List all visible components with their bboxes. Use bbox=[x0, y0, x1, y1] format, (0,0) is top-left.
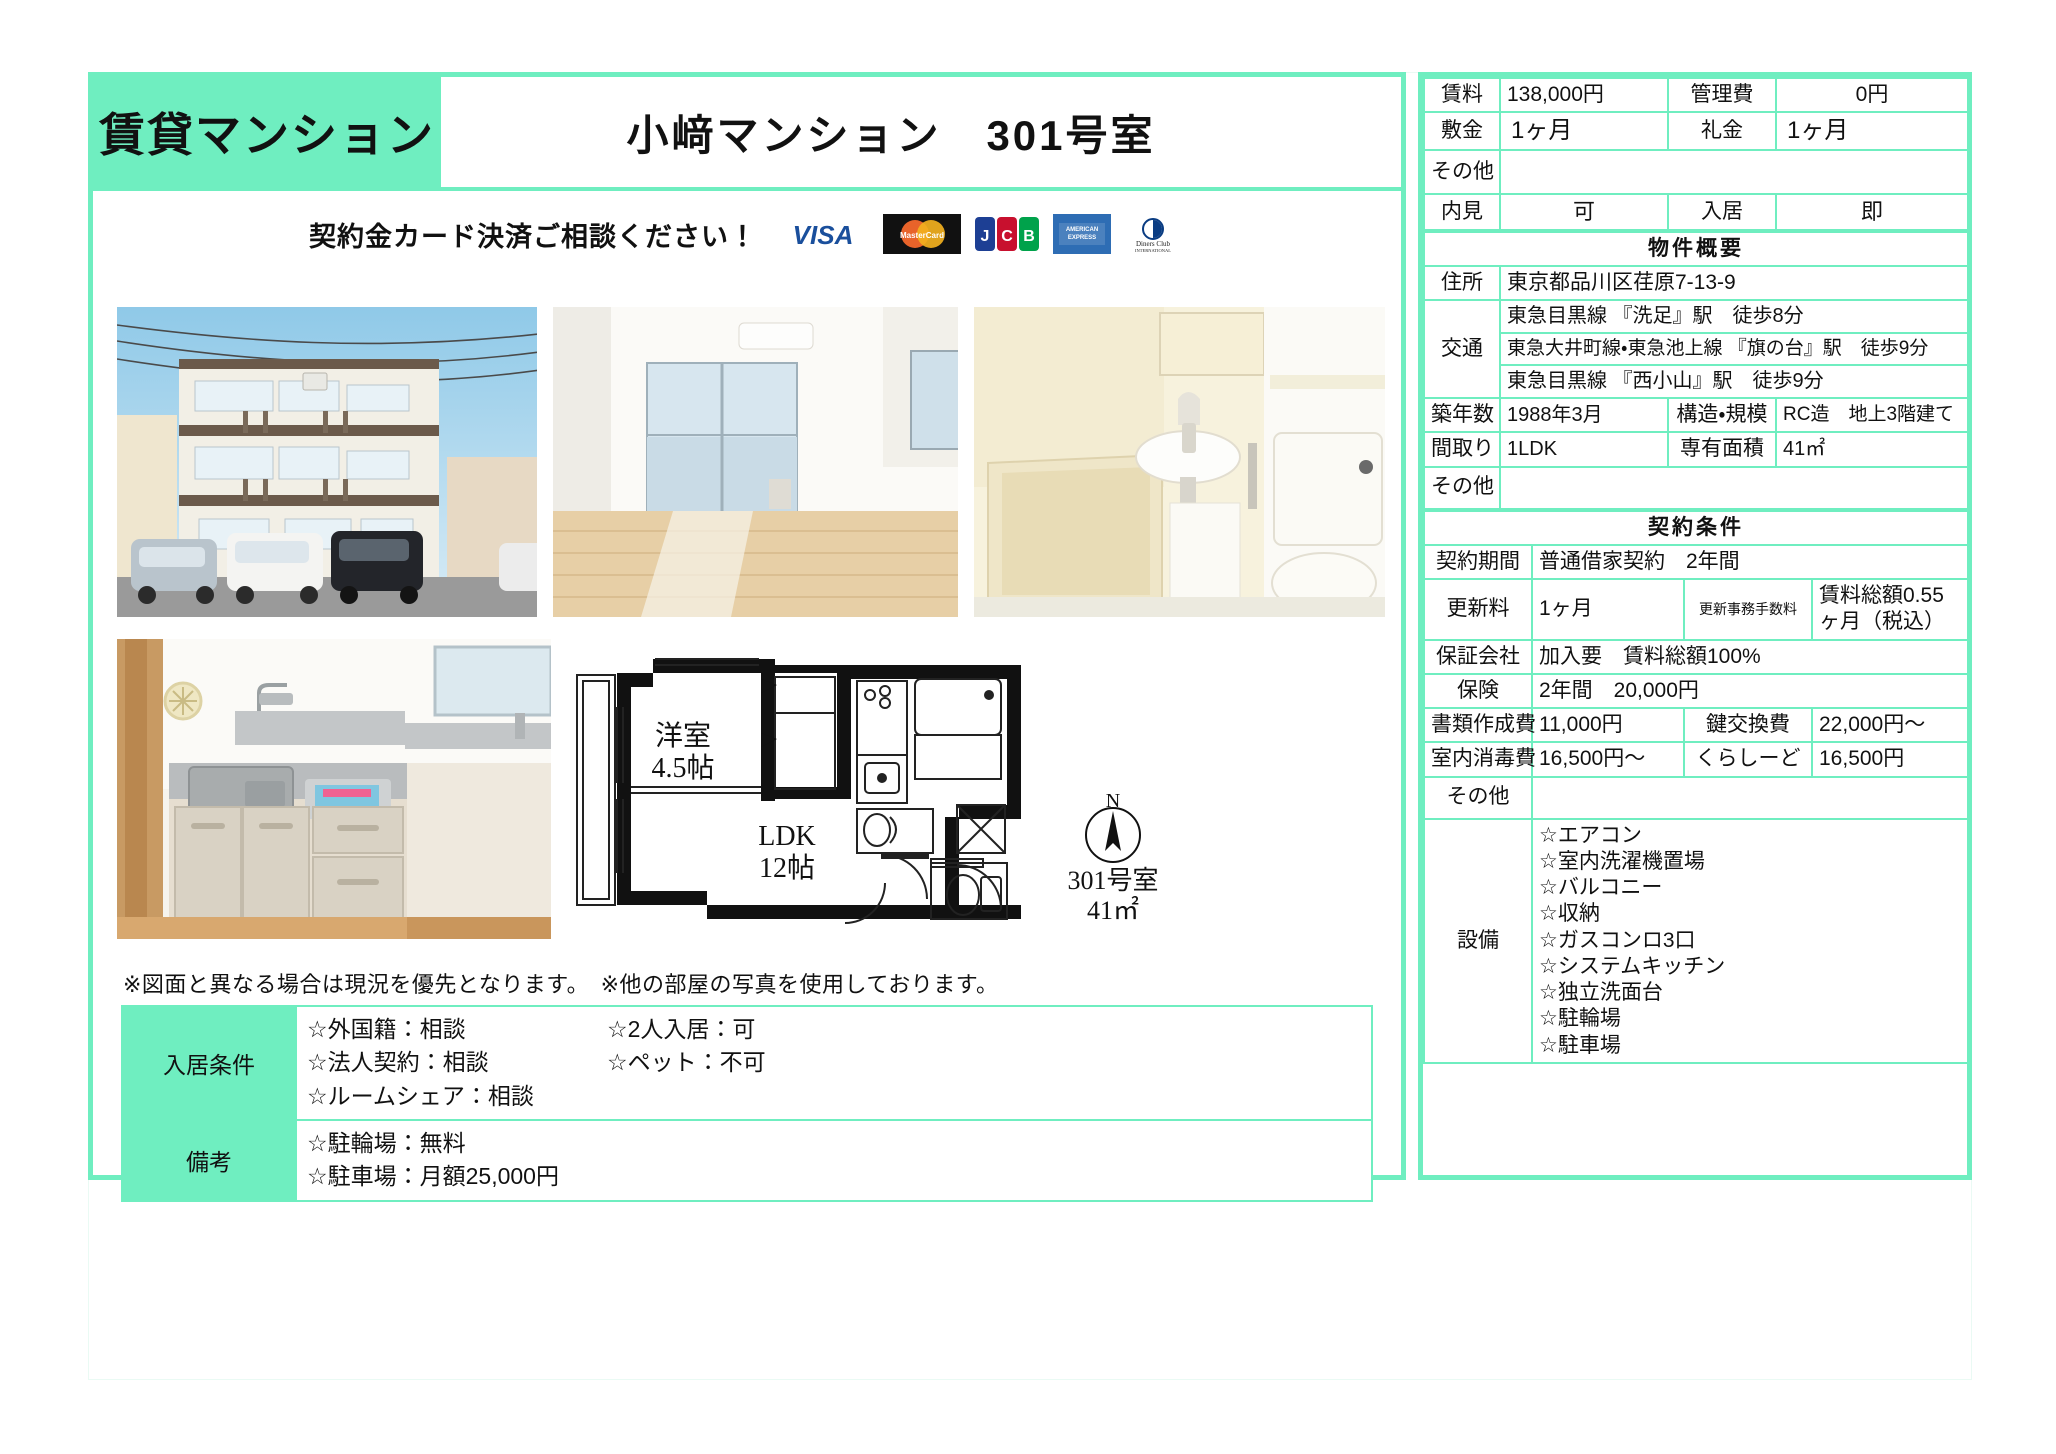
amex-logo: AMERICAN EXPRESS bbox=[1053, 214, 1111, 254]
remarks-label: 備考 bbox=[122, 1120, 296, 1201]
disinfection-fee-label: 室内消毒費 bbox=[1424, 742, 1532, 776]
contract-term-label: 契約期間 bbox=[1424, 545, 1532, 579]
document-fee-value: 11,000円 bbox=[1532, 708, 1684, 742]
svg-text:J: J bbox=[981, 228, 990, 245]
list-item: ☆ペット：不可 bbox=[607, 1046, 907, 1079]
floorplan-unit-label: 301号室 bbox=[1067, 866, 1158, 895]
transit-value-2: 東急大井町線・東急池上線 『旗の台』駅 徒歩9分 bbox=[1500, 333, 1968, 365]
list-item: ☆法人契約：相談 bbox=[307, 1046, 607, 1079]
floorplan-ldk-size: 12帖 bbox=[759, 852, 815, 884]
table-row: 内見 可 入居 即 bbox=[1424, 194, 1968, 230]
svg-text:C: C bbox=[1001, 228, 1013, 245]
insurance-label: 保険 bbox=[1424, 674, 1532, 708]
price-table: 賃料 138,000円 管理費 0円 敷金 1ヶ月 礼金 1ヶ月 その他 内見 bbox=[1423, 77, 1969, 231]
contract-table: 契約条件 契約期間 普通借家契約 2年間 更新料 1ヶ月 更新事務手数料 賃料総… bbox=[1423, 510, 1969, 1064]
key-money-value: 1ヶ月 bbox=[1776, 112, 1968, 150]
table-row: その他 bbox=[1424, 777, 1968, 819]
rent-label: 賃料 bbox=[1424, 78, 1500, 112]
right-panel: 賃料 138,000円 管理費 0円 敷金 1ヶ月 礼金 1ヶ月 その他 内見 bbox=[1418, 72, 1972, 1180]
table-row: その他 bbox=[1424, 150, 1968, 194]
movein-label: 入居 bbox=[1668, 194, 1776, 230]
floorplan-room-label: 洋室 bbox=[655, 720, 711, 752]
equipment-label: 設備 bbox=[1424, 819, 1532, 1063]
viewing-value: 可 bbox=[1500, 194, 1668, 230]
contract-section-title: 契約条件 bbox=[1424, 511, 1968, 545]
list-item: ☆ルームシェア：相談 bbox=[307, 1080, 607, 1113]
card-logo-group: VISA MasterCard J C bbox=[773, 214, 1185, 254]
structure-label: 構造・規模 bbox=[1668, 398, 1776, 432]
deposit-label: 敷金 bbox=[1424, 112, 1500, 150]
table-row: 保証会社 加入要 賃料総額100% bbox=[1424, 640, 1968, 674]
floorplan-ldk-label: LDK bbox=[758, 821, 816, 852]
overview-other-value bbox=[1500, 467, 1968, 509]
floorplan: 洋室 4.5帖 LDK 12帖 N 301号室 41㎡ bbox=[565, 637, 1383, 942]
building-age-value: 1988年3月 bbox=[1500, 398, 1668, 432]
compass-north-label: N bbox=[1106, 790, 1120, 812]
list-item: ☆駐輪場 bbox=[1539, 1006, 1961, 1032]
area-label: 専有面積 bbox=[1668, 432, 1776, 466]
renewal-admin-fee-label: 更新事務手数料 bbox=[1684, 579, 1812, 640]
contract-other-value bbox=[1532, 777, 1968, 819]
guarantor-company-label: 保証会社 bbox=[1424, 640, 1532, 674]
transit-value-1: 東急目黒線 『洗足』駅 徒歩8分 bbox=[1500, 300, 1968, 333]
list-item: ☆システムキッチン bbox=[1539, 954, 1961, 980]
residency-conditions-label: 入居条件 bbox=[122, 1006, 296, 1120]
kurashido-value: 16,500円 bbox=[1812, 742, 1968, 776]
key-exchange-fee-label: 鍵交換費 bbox=[1684, 708, 1812, 742]
table-row: 保険 2年間 20,000円 bbox=[1424, 674, 1968, 708]
table-row: 敷金 1ヶ月 礼金 1ヶ月 bbox=[1424, 112, 1968, 150]
table-row: 入居条件 ☆外国籍：相談 ☆法人契約：相談 ☆ルームシェア：相談 ☆2人入居：可… bbox=[122, 1006, 1372, 1120]
address-label: 住所 bbox=[1424, 266, 1500, 300]
floorplan-room-size: 4.5帖 bbox=[651, 752, 714, 784]
rent-value: 138,000円 bbox=[1500, 78, 1668, 112]
document-fee-label: 書類作成費 bbox=[1424, 708, 1532, 742]
list-item: ☆駐輪場：無料 bbox=[307, 1127, 1361, 1160]
table-row: その他 bbox=[1424, 467, 1968, 509]
list-item: ☆収納 bbox=[1539, 901, 1961, 927]
table-row: 間取り 1LDK 専有面積 41㎡ bbox=[1424, 432, 1968, 466]
table-row: 築年数 1988年3月 構造・規模 RC造 地上3階建て bbox=[1424, 398, 1968, 432]
price-other-label: その他 bbox=[1424, 150, 1500, 194]
photo-row-bottom: 洋室 4.5帖 LDK 12帖 N 301号室 41㎡ bbox=[115, 637, 1387, 942]
table-row: 東急目黒線 『西小山』駅 徒歩9分 bbox=[1424, 365, 1968, 398]
transit-value-3: 東急目黒線 『西小山』駅 徒歩9分 bbox=[1500, 365, 1968, 398]
svg-text:VISA: VISA bbox=[793, 220, 854, 250]
jcb-logo: J C B bbox=[971, 214, 1043, 254]
mastercard-logo: MasterCard bbox=[883, 214, 961, 254]
price-other-value bbox=[1500, 150, 1968, 194]
list-item: ☆駐車場 bbox=[1539, 1033, 1961, 1059]
table-row: 契約条件 bbox=[1424, 511, 1968, 545]
overview-table: 物件概要 住所 東京都品川区荏原7-13-9 交通 東急目黒線 『洗足』駅 徒歩… bbox=[1423, 231, 1969, 510]
table-row: 賃料 138,000円 管理費 0円 bbox=[1424, 78, 1968, 112]
property-type-badge: 賃貸マンション bbox=[93, 77, 441, 187]
guarantor-company-value: 加入要 賃料総額100% bbox=[1532, 640, 1968, 674]
title-row: 賃貸マンション 小﨑マンション 301号室 bbox=[93, 77, 1401, 191]
list-item: ☆独立洗面台 bbox=[1539, 980, 1961, 1006]
insurance-value: 2年間 20,000円 bbox=[1532, 674, 1968, 708]
list-item: ☆駐車場：月額25,000円 bbox=[307, 1160, 1361, 1193]
svg-text:MasterCard: MasterCard bbox=[900, 231, 944, 240]
management-fee-value: 0円 bbox=[1776, 78, 1968, 112]
remarks-value: ☆駐輪場：無料 ☆駐車場：月額25,000円 bbox=[296, 1120, 1372, 1201]
table-row: 書類作成費 11,000円 鍵交換費 22,000円～ bbox=[1424, 708, 1968, 742]
living-room-photo bbox=[551, 305, 960, 619]
svg-text:EXPRESS: EXPRESS bbox=[1068, 235, 1096, 241]
exterior-photo bbox=[115, 305, 539, 619]
deposit-value: 1ヶ月 bbox=[1500, 112, 1668, 150]
page-title: 小﨑マンション 301号室 bbox=[441, 77, 1401, 187]
table-row: 室内消毒費 16,500円～ くらしーど 16,500円 bbox=[1424, 742, 1968, 776]
overview-section-title: 物件概要 bbox=[1424, 232, 1968, 266]
layout-label: 間取り bbox=[1424, 432, 1500, 466]
list-item: ☆ガスコンロ3口 bbox=[1539, 928, 1961, 954]
residency-conditions-value: ☆外国籍：相談 ☆法人契約：相談 ☆ルームシェア：相談 ☆2人入居：可 ☆ペット… bbox=[296, 1006, 1372, 1120]
list-item: ☆バルコニー bbox=[1539, 875, 1961, 901]
overview-other-label: その他 bbox=[1424, 467, 1500, 509]
table-row: 更新料 1ヶ月 更新事務手数料 賃料総額0.55ヶ月（税込） bbox=[1424, 579, 1968, 640]
svg-text:INTERNATIONAL: INTERNATIONAL bbox=[1135, 248, 1171, 253]
contract-term-value: 普通借家契約 2年間 bbox=[1532, 545, 1968, 579]
svg-text:AMERICAN: AMERICAN bbox=[1066, 227, 1098, 233]
list-item: ☆2人入居：可 bbox=[607, 1013, 907, 1046]
management-fee-label: 管理費 bbox=[1668, 78, 1776, 112]
kitchen-photo bbox=[115, 637, 553, 941]
listing-sheet: 賃貸マンション 小﨑マンション 301号室 契約金カード決済ご相談ください！ V… bbox=[88, 72, 1972, 1180]
list-item: ☆エアコン bbox=[1539, 823, 1961, 849]
svg-text:Diners Club: Diners Club bbox=[1136, 240, 1171, 248]
layout-value: 1LDK bbox=[1500, 432, 1668, 466]
disinfection-fee-value: 16,500円～ bbox=[1532, 742, 1684, 776]
table-row: 東急大井町線・東急池上線 『旗の台』駅 徒歩9分 bbox=[1424, 333, 1968, 365]
list-item: ☆外国籍：相談 bbox=[307, 1013, 607, 1046]
structure-value: RC造 地上3階建て bbox=[1776, 398, 1968, 432]
left-panel: 賃貸マンション 小﨑マンション 301号室 契約金カード決済ご相談ください！ V… bbox=[88, 72, 1406, 1180]
address-value: 東京都品川区荏原7-13-9 bbox=[1500, 266, 1968, 300]
renewal-admin-fee-value: 賃料総額0.55ヶ月（税込） bbox=[1812, 579, 1968, 640]
table-row: 物件概要 bbox=[1424, 232, 1968, 266]
key-money-label: 礼金 bbox=[1668, 112, 1776, 150]
card-payment-note: 契約金カード決済ご相談ください！ bbox=[309, 215, 757, 254]
disclaimer-note: ※図面と異なる場合は現況を優先となります。 ※他の部屋の写真を使用しております。 bbox=[123, 967, 999, 999]
transit-label: 交通 bbox=[1424, 300, 1500, 398]
table-row: 備考 ☆駐輪場：無料 ☆駐車場：月額25,000円 bbox=[122, 1120, 1372, 1201]
diners-club-logo: Diners Club INTERNATIONAL bbox=[1121, 214, 1185, 254]
photo-row-top bbox=[115, 305, 1387, 619]
table-row: 契約期間 普通借家契約 2年間 bbox=[1424, 545, 1968, 579]
visa-logo: VISA bbox=[773, 214, 873, 254]
svg-text:B: B bbox=[1023, 228, 1035, 245]
bathroom-photo bbox=[972, 305, 1387, 619]
list-item: ☆室内洗濯機置場 bbox=[1539, 849, 1961, 875]
residency-conditions-table: 入居条件 ☆外国籍：相談 ☆法人契約：相談 ☆ルームシェア：相談 ☆2人入居：可… bbox=[121, 1005, 1373, 1202]
building-age-label: 築年数 bbox=[1424, 398, 1500, 432]
table-row: 住所 東京都品川区荏原7-13-9 bbox=[1424, 266, 1968, 300]
movein-value: 即 bbox=[1776, 194, 1968, 230]
renewal-fee-label: 更新料 bbox=[1424, 579, 1532, 640]
viewing-label: 内見 bbox=[1424, 194, 1500, 230]
card-payment-row: 契約金カード決済ご相談ください！ VISA MasterCard bbox=[93, 191, 1401, 269]
floorplan-area-label: 41㎡ bbox=[1087, 896, 1139, 925]
contract-other-label: その他 bbox=[1424, 777, 1532, 819]
area-value: 41㎡ bbox=[1776, 432, 1968, 466]
renewal-fee-value: 1ヶ月 bbox=[1532, 579, 1684, 640]
table-row: 交通 東急目黒線 『洗足』駅 徒歩8分 bbox=[1424, 300, 1968, 333]
equipment-value: ☆エアコン ☆室内洗濯機置場 ☆バルコニー ☆収納 ☆ガスコンロ3口 ☆システム… bbox=[1532, 819, 1968, 1063]
listing-page: 賃貸マンション 小﨑マンション 301号室 契約金カード決済ご相談ください！ V… bbox=[0, 0, 2056, 1454]
key-exchange-fee-value: 22,000円～ bbox=[1812, 708, 1968, 742]
table-row: 設備 ☆エアコン ☆室内洗濯機置場 ☆バルコニー ☆収納 ☆ガスコンロ3口 ☆シ… bbox=[1424, 819, 1968, 1063]
kurashido-label: くらしーど bbox=[1684, 742, 1812, 776]
